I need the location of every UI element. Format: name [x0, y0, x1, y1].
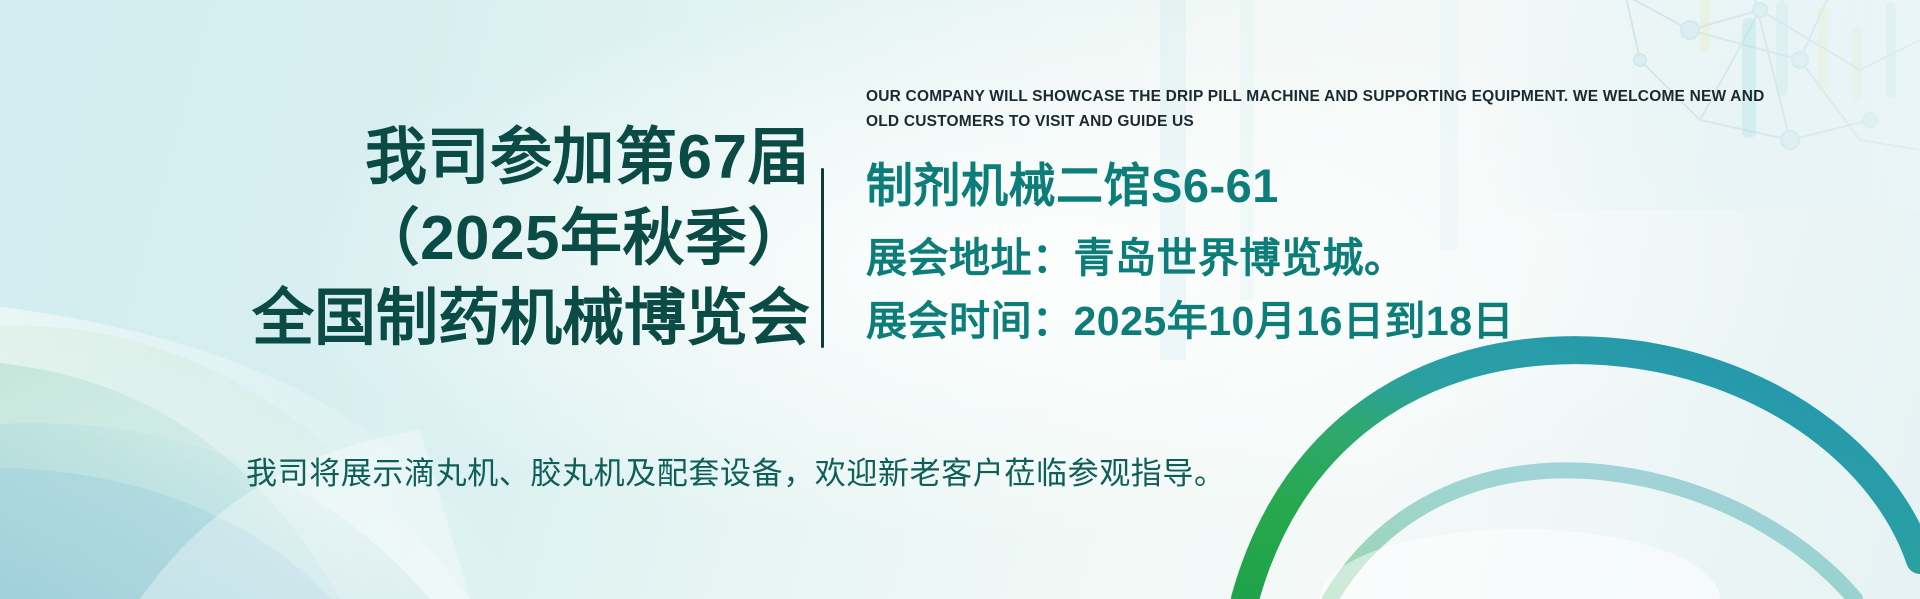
- exhibition-banner: 我司参加第67届 （2025年秋季） 全国制药机械博览会 OUR COMPANY…: [0, 0, 1920, 599]
- event-address: 展会地址：青岛世界博览城。: [866, 230, 1876, 287]
- event-date: 展会时间：2025年10月16日到18日: [866, 293, 1876, 350]
- vertical-divider: [821, 168, 824, 348]
- event-caption: 我司将展示滴丸机、胶丸机及配套设备，欢迎新老客户莅临参观指导。: [246, 448, 1226, 493]
- event-details-block: OUR COMPANY WILL SHOWCASE THE DRIP PILL …: [866, 84, 1876, 350]
- page-title: 我司参加第67届 （2025年秋季） 全国制药机械博览会: [150, 118, 810, 360]
- booth-location: 制剂机械二馆S6-61: [866, 158, 1876, 213]
- headline-line-2: （2025年秋季）: [150, 199, 810, 280]
- english-subtitle: OUR COMPANY WILL SHOWCASE THE DRIP PILL …: [866, 84, 1776, 134]
- green-teal-arc-graphic: [1245, 350, 1920, 599]
- headline-line-1: 我司参加第67届: [150, 118, 810, 199]
- headline-line-3: 全国制药机械博览会: [150, 279, 810, 360]
